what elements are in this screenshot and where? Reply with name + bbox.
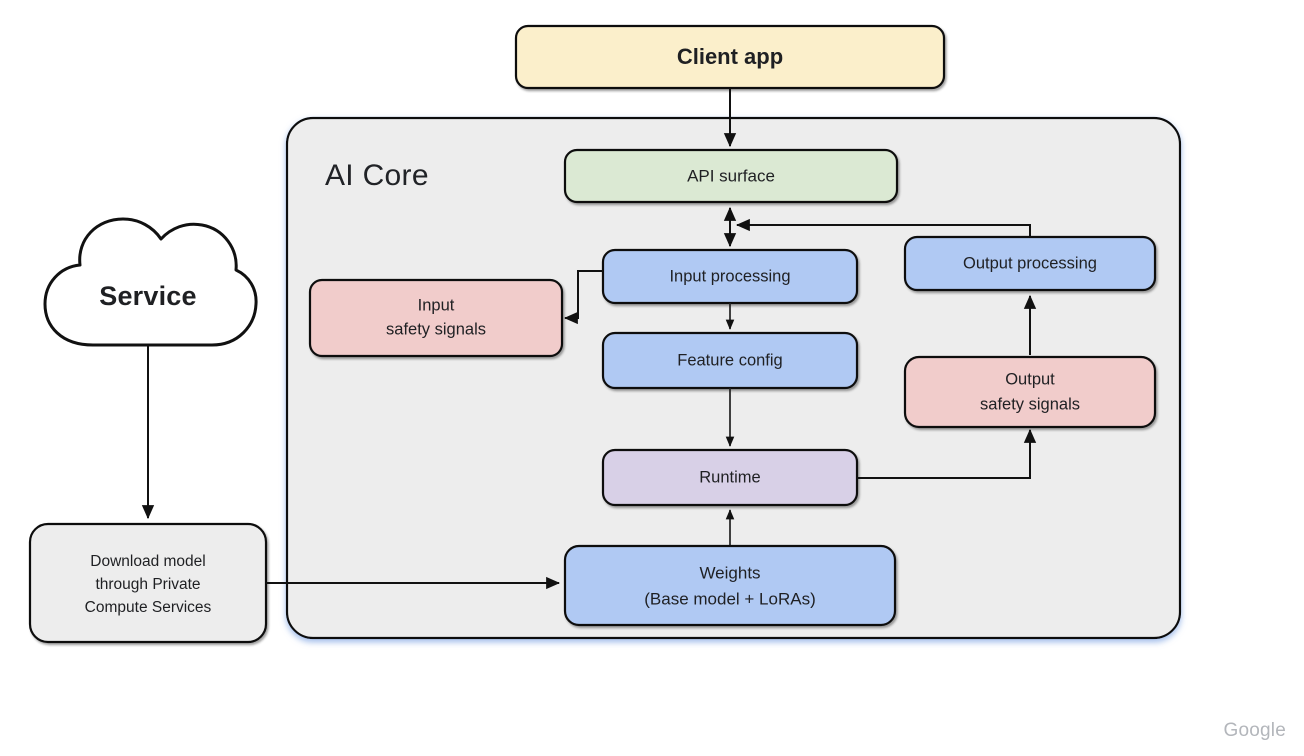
google-watermark: Google: [1224, 720, 1286, 742]
input-safety-signals-box[interactable]: [310, 280, 562, 356]
input-safety-signals-label-line2: safety signals: [386, 320, 486, 338]
download-model-label-line1: Download model: [90, 553, 205, 570]
output-processing-label: Output processing: [963, 254, 1097, 272]
api-surface-label: API surface: [687, 166, 775, 185]
node-input-processing[interactable]: Input processing: [603, 250, 857, 303]
diagram-root: AI Core Client app API surface Input pro…: [0, 0, 1304, 756]
node-output-processing[interactable]: Output processing: [905, 237, 1155, 290]
node-service-cloud[interactable]: Service: [45, 219, 256, 345]
architecture-diagram: AI Core Client app API surface Input pro…: [0, 0, 1304, 756]
download-model-label-line3: Compute Services: [85, 599, 212, 616]
output-safety-signals-box[interactable]: [905, 357, 1155, 427]
input-processing-label: Input processing: [669, 267, 790, 285]
node-output-safety-signals[interactable]: Output safety signals: [905, 357, 1155, 427]
node-weights[interactable]: Weights (Base model + LoRAs): [565, 546, 895, 625]
feature-config-label: Feature config: [677, 351, 782, 369]
ai-core-title: AI Core: [325, 159, 429, 192]
runtime-label: Runtime: [699, 468, 760, 486]
node-api-surface[interactable]: API surface: [565, 150, 897, 202]
node-input-safety-signals[interactable]: Input safety signals: [310, 280, 562, 356]
output-safety-signals-label-line1: Output: [1005, 370, 1055, 388]
output-safety-signals-label-line2: safety signals: [980, 395, 1080, 413]
input-safety-signals-label-line1: Input: [418, 296, 455, 314]
weights-label-line1: Weights: [699, 563, 760, 582]
node-runtime[interactable]: Runtime: [603, 450, 857, 505]
node-feature-config[interactable]: Feature config: [603, 333, 857, 388]
node-client-app[interactable]: Client app: [516, 26, 944, 88]
weights-label-line2: (Base model + LoRAs): [644, 589, 816, 608]
weights-box[interactable]: [565, 546, 895, 625]
client-app-label: Client app: [677, 44, 783, 69]
download-model-label-line2: through Private: [95, 576, 200, 593]
node-download-model[interactable]: Download model through Private Compute S…: [30, 524, 266, 642]
service-cloud-label: Service: [99, 281, 196, 311]
